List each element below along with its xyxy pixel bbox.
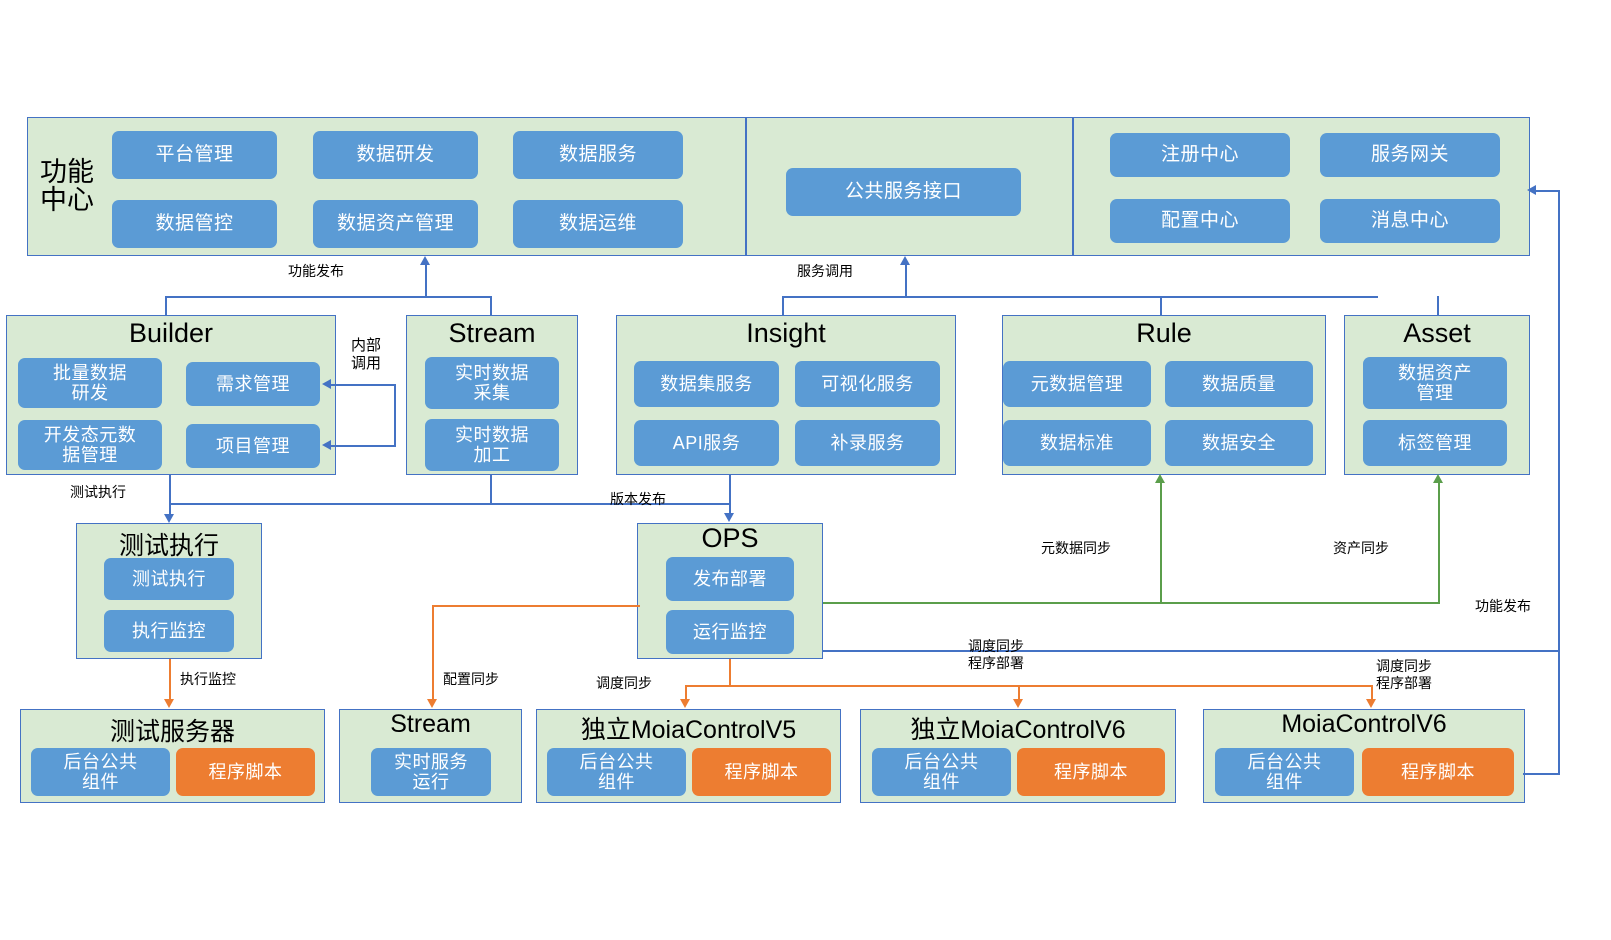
line-test-exec-v [169,475,171,519]
chip-data-governance[interactable]: 数据管控 [112,200,277,248]
function-center-label-text: 功能中心 [36,159,98,214]
line-bottom-right-h [1523,773,1560,775]
edge-label-function-publish-top: 功能发布 [288,263,344,280]
chip-release-deploy[interactable]: 发布部署 [666,557,794,601]
chip-service-gateway[interactable]: 服务网关 [1320,133,1500,177]
line-internal-call-h1 [330,384,396,386]
chip-backend-common-component-4[interactable]: 后台公共 组件 [1215,748,1354,796]
arrow-schedule-sync-moia [1366,699,1376,708]
chip-data-quality[interactable]: 数据质量 [1165,361,1313,407]
chip-data-operations[interactable]: 数据运维 [513,200,683,248]
line-stream-up [490,296,492,316]
band-divider-2 [1072,117,1074,256]
bus-schedule-sync [685,685,1371,687]
arrow-exec-monitor [164,699,174,708]
panel-standalone-moiacontrolv6-title: 独立MoiaControlV6 [860,710,1176,746]
line-vp-from-insight [729,475,731,504]
panel-insight-title: Insight [616,318,956,349]
bus-green [823,602,1440,604]
chip-dataset-service[interactable]: 数据集服务 [634,361,779,407]
edge-label-schedule-sync-1: 调度同步 [596,675,652,692]
arrow-internal-call-2 [322,440,331,450]
bus-top-publish-2 [425,296,491,298]
chip-data-service[interactable]: 数据服务 [513,131,683,179]
line-asset-sync-v [1438,481,1440,603]
edge-label-function-publish-right: 功能发布 [1475,598,1531,615]
chip-program-script-3[interactable]: 程序脚本 [1017,748,1165,796]
edge-label-exec-monitor: 执行监控 [180,671,236,688]
line-publish-riser [425,263,427,298]
bus-top-call [782,296,1378,298]
edge-label-version-publish: 版本发布 [610,491,666,508]
line-bottom-right-riser [1558,652,1560,774]
arrow-schedule-sync-v5 [680,699,690,708]
line-right-riser [1558,190,1560,652]
line-right-to-band [1535,190,1560,192]
line-internal-call-h2 [330,445,396,447]
edge-label-test-execute: 测试执行 [70,484,126,501]
panel-rule-title: Rule [1002,318,1326,349]
chip-realtime-data-processing[interactable]: 实时数据 加工 [425,419,559,471]
chip-runtime-monitor[interactable]: 运行监控 [666,610,794,654]
chip-platform-management[interactable]: 平台管理 [112,131,277,179]
arrow-version-publish [724,513,734,522]
line-config-sync-h [432,605,640,607]
line-metadata-sync-v [1160,481,1162,603]
function-center-label: 功能中心 [36,121,98,252]
chip-metadata-management[interactable]: 元数据管理 [1003,361,1151,407]
chip-realtime-data-collection[interactable]: 实时数据 采集 [425,357,559,409]
panel-standalone-moiacontrolv5-title: 独立MoiaControlV5 [536,710,841,746]
line-exec-monitor-v [169,659,171,701]
chip-backend-common-component-3[interactable]: 后台公共 组件 [872,748,1011,796]
edge-label-schedule-sync-2: 调度同步 程序部署 [968,638,1024,672]
chip-message-center[interactable]: 消息中心 [1320,199,1500,243]
line-call-riser [905,263,907,298]
chip-test-execution[interactable]: 测试执行 [104,558,234,600]
line-insight-up [782,296,784,316]
panel-ops-title: OPS [637,523,823,554]
arrow-internal-call-1 [322,379,331,389]
panel-stream-title: Stream [406,318,578,349]
chip-supplement-service[interactable]: 补录服务 [795,420,940,466]
panel-test-execution-title: 测试执行 [76,526,262,562]
arrow-metadata-sync [1155,474,1165,483]
chip-data-asset-management[interactable]: 数据资产管理 [313,200,478,248]
chip-program-script-1[interactable]: 程序脚本 [176,748,315,796]
panel-stream-server-title: Stream [339,710,522,739]
edge-label-service-call: 服务调用 [797,263,853,280]
chip-data-standard[interactable]: 数据标准 [1003,420,1151,466]
chip-backend-common-component-2[interactable]: 后台公共 组件 [547,748,686,796]
bus-right-publish [823,650,1560,652]
chip-visualization-service[interactable]: 可视化服务 [795,361,940,407]
chip-program-script-4[interactable]: 程序脚本 [1362,748,1514,796]
chip-program-script-2[interactable]: 程序脚本 [692,748,831,796]
band-divider-1 [745,117,747,256]
edge-label-config-sync: 配置同步 [443,671,499,688]
line-sched-drop [729,659,731,686]
edge-label-metadata-sync: 元数据同步 [1041,540,1111,557]
panel-test-server-title: 测试服务器 [20,712,325,748]
line-asset-up [1437,296,1439,316]
arrow-function-publish [420,256,430,265]
chip-data-development[interactable]: 数据研发 [313,131,478,179]
chip-public-service-interface[interactable]: 公共服务接口 [786,168,1021,216]
chip-dev-metadata-management[interactable]: 开发态元数 据管理 [18,420,162,470]
chip-data-asset-mgmt[interactable]: 数据资产 管理 [1363,357,1507,409]
chip-data-security[interactable]: 数据安全 [1165,420,1313,466]
chip-realtime-service-running[interactable]: 实时服务 运行 [371,748,491,796]
arrow-asset-sync [1433,474,1443,483]
line-builder-up [165,296,167,316]
arrow-config-sync [427,699,437,708]
chip-project-management[interactable]: 项目管理 [186,424,320,468]
panel-builder-title: Builder [6,318,336,349]
line-rule-up [1160,296,1162,316]
line-internal-call-v [394,384,396,446]
chip-tag-management[interactable]: 标签管理 [1363,420,1507,466]
chip-api-service[interactable]: API服务 [634,420,779,466]
arrow-schedule-sync-v6 [1013,699,1023,708]
arrow-service-call [900,256,910,265]
chip-requirement-management[interactable]: 需求管理 [186,362,320,406]
arrow-function-publish-right [1527,185,1536,195]
edge-label-internal-call: 内部 调用 [342,337,390,373]
panel-moiacontrolv6-title: MoiaControlV6 [1203,710,1525,739]
edge-label-asset-sync: 资产同步 [1333,540,1389,557]
chip-registry-center[interactable]: 注册中心 [1110,133,1290,177]
chip-backend-common-component-1[interactable]: 后台公共 组件 [31,748,170,796]
edge-label-schedule-sync-3: 调度同步 程序部署 [1376,658,1432,692]
chip-batch-data-development[interactable]: 批量数据 研发 [18,358,162,408]
chip-config-center[interactable]: 配置中心 [1110,199,1290,243]
bus-top-publish [165,296,425,298]
line-config-sync-v [432,605,434,701]
arrow-test-exec [164,514,174,523]
panel-asset-title: Asset [1344,318,1530,349]
architecture-diagram: 功能中心 平台管理 数据研发 数据服务 数据管控 数据资产管理 数据运维 公共服… [0,0,1611,940]
chip-execution-monitor[interactable]: 执行监控 [104,610,234,652]
line-vp-from-stream [490,475,492,504]
